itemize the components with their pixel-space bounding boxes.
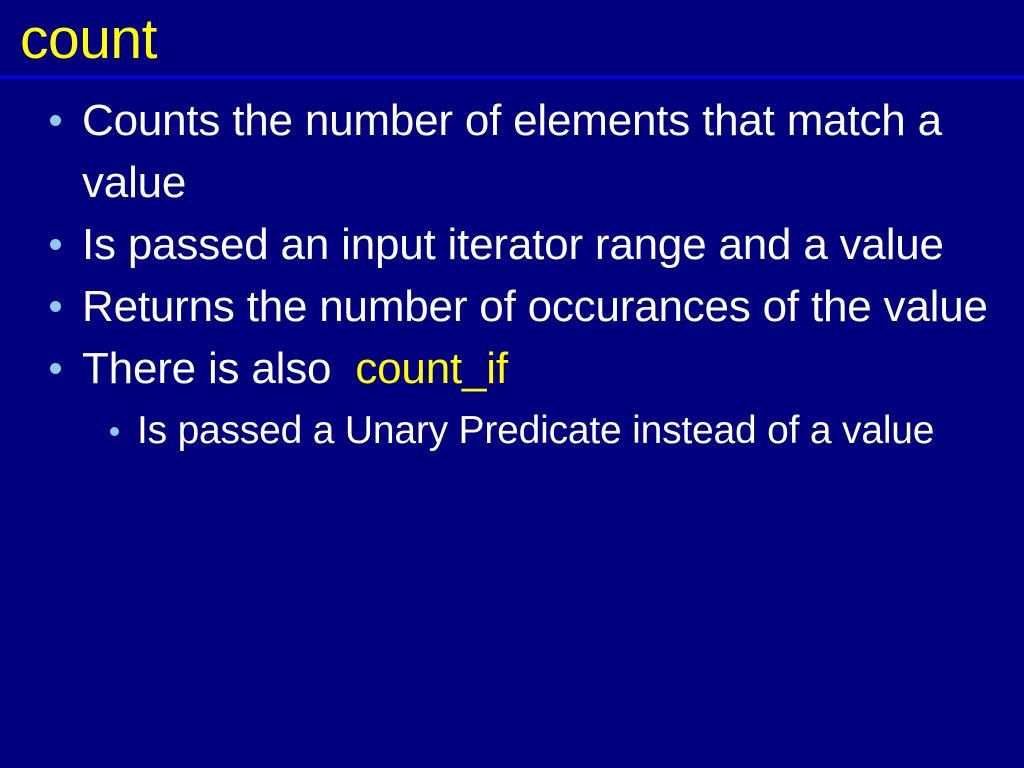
bullet-list: Counts the number of elements that match… xyxy=(0,90,1024,462)
sub-list-item-label: Is passed a Unary Predicate instead of a… xyxy=(137,400,984,462)
bullet-dot-icon xyxy=(50,363,61,374)
list-item-label-text: There is also xyxy=(82,344,331,393)
bullet-dot-icon xyxy=(110,427,119,436)
list-item-label: Returns the number of occurances of the … xyxy=(82,276,988,338)
bullet-dot-icon xyxy=(50,115,61,126)
title-divider xyxy=(0,76,1024,79)
sub-list-item: Is passed a Unary Predicate instead of a… xyxy=(0,400,1024,462)
bullet-dot-icon xyxy=(50,239,61,250)
list-item-label: Counts the number of elements that match… xyxy=(82,90,988,214)
list-item: Returns the number of occurances of the … xyxy=(0,276,1024,338)
list-item: Counts the number of elements that match… xyxy=(0,90,1024,214)
list-item-with-code: There is also count_if xyxy=(0,338,1024,400)
page-title: count xyxy=(20,8,1004,74)
code-token-count-if: count_if xyxy=(355,344,508,393)
bullet-dot-icon xyxy=(50,301,61,312)
list-item-label: There is also count_if xyxy=(82,338,988,400)
list-item-label: Is passed an input iterator range and a … xyxy=(82,214,988,276)
slide: count Counts the number of elements that… xyxy=(0,0,1024,768)
list-item: Is passed an input iterator range and a … xyxy=(0,214,1024,276)
